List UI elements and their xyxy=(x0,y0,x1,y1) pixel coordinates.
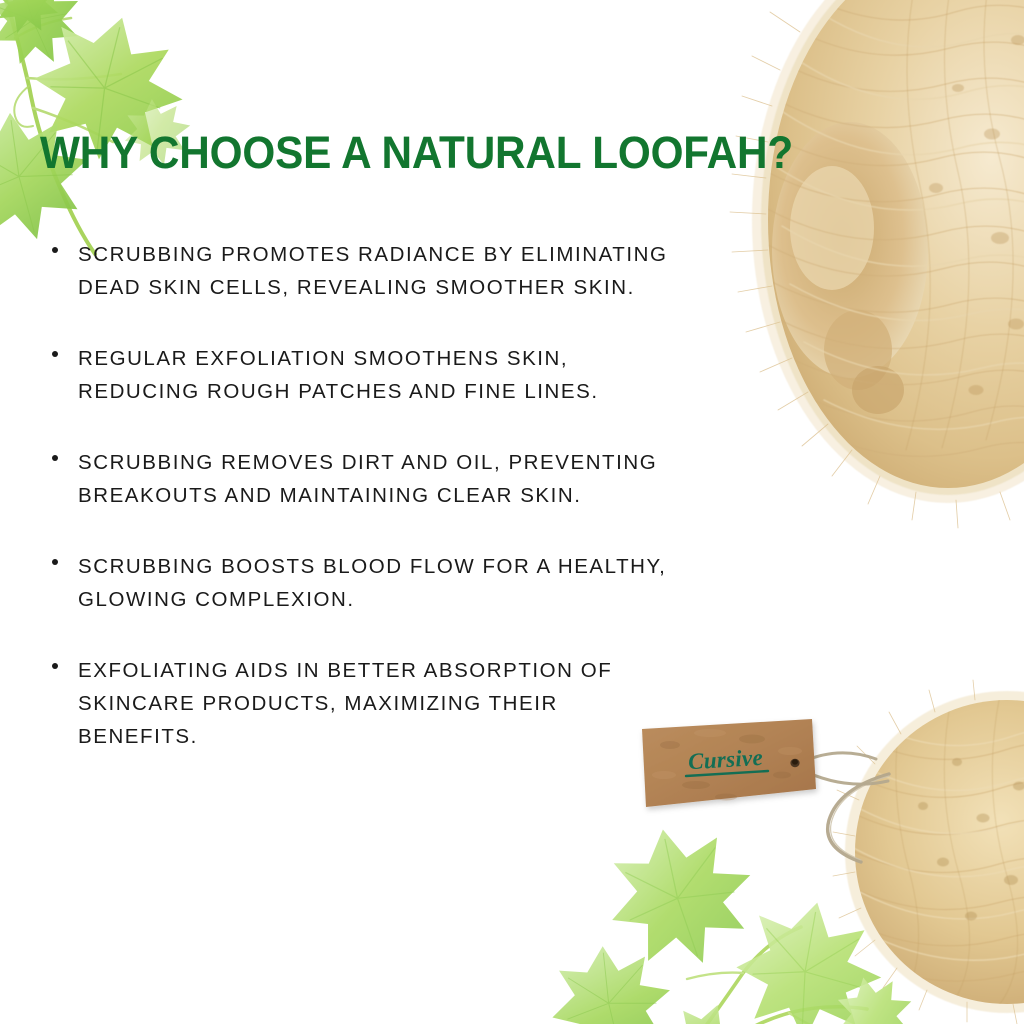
tag-brand-text: Cursive xyxy=(687,745,763,775)
page-title: WHY CHOOSE A NATURAL LOOFAH? xyxy=(40,128,736,178)
product-hang-tag: Cursive xyxy=(640,715,890,825)
bullet-dot-icon xyxy=(52,663,58,669)
bullet-dot-icon xyxy=(52,559,58,565)
bullet-dot-icon xyxy=(52,351,58,357)
list-item: Regular exfoliation smoothens skin, redu… xyxy=(48,342,668,408)
list-item: Scrubbing promotes radiance by eliminati… xyxy=(48,238,668,304)
benefits-list: Scrubbing promotes radiance by eliminati… xyxy=(48,238,668,753)
bullet-dot-icon xyxy=(52,247,58,253)
vine-leaves-bottom-right-decoration xyxy=(575,845,905,1024)
list-item: Scrubbing removes dirt and oil, preventi… xyxy=(48,446,668,512)
benefit-text: Exfoliating aids in better absorption of… xyxy=(78,659,612,748)
loofah-sponge-image xyxy=(700,0,1024,520)
list-item: Exfoliating aids in better absorption of… xyxy=(48,654,668,753)
list-item: Scrubbing boosts blood flow for a health… xyxy=(48,550,668,616)
benefit-text: Scrubbing removes dirt and oil, preventi… xyxy=(78,451,657,507)
benefit-text: Scrubbing boosts blood flow for a health… xyxy=(78,555,666,611)
bullet-dot-icon xyxy=(52,455,58,461)
benefit-text: Regular exfoliation smoothens skin, redu… xyxy=(78,347,599,403)
benefit-text: Scrubbing promotes radiance by eliminati… xyxy=(78,243,667,299)
infographic-canvas: Cursive xyxy=(0,0,1024,1024)
